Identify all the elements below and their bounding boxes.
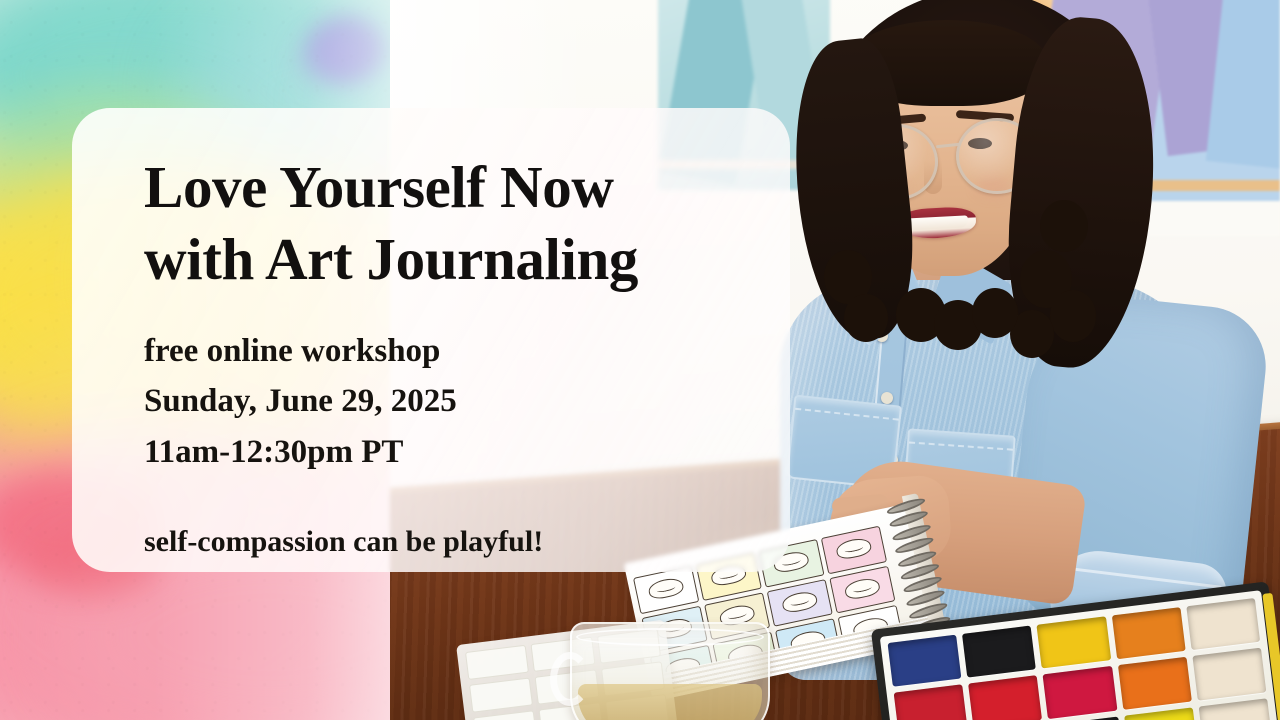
paint-pan xyxy=(962,625,1036,677)
headline-line-2: with Art Journaling xyxy=(144,224,790,296)
headline-line-1: Love Yourself Now xyxy=(144,152,790,224)
doodle-figure xyxy=(843,576,881,601)
jar-rim xyxy=(576,628,764,646)
doodle-figure xyxy=(781,589,819,614)
paint-pan xyxy=(968,675,1042,720)
hair-curl xyxy=(844,294,888,342)
paint-pan xyxy=(1186,598,1260,650)
journal-doodle-cell xyxy=(821,526,887,574)
detail-format: free online workshop xyxy=(144,326,790,376)
doodle-figure xyxy=(647,576,685,601)
info-card: Love Yourself Now with Art Journaling fr… xyxy=(72,108,790,572)
paint-pan xyxy=(888,635,962,687)
paint-pan xyxy=(1124,707,1198,720)
paint-water xyxy=(578,684,762,720)
page-title: Love Yourself Now with Art Journaling xyxy=(144,152,790,296)
doodle-figure xyxy=(835,536,873,561)
tagline: self-compassion can be playful! xyxy=(144,525,790,559)
event-details: free online workshop Sunday, June 29, 20… xyxy=(144,326,790,477)
hair-curl xyxy=(972,288,1018,338)
mixing-well xyxy=(473,710,537,720)
paint-pan xyxy=(1118,657,1192,709)
detail-date: Sunday, June 29, 2025 xyxy=(144,376,790,426)
paint-pan xyxy=(1043,666,1117,718)
mixing-well xyxy=(465,645,529,680)
paint-pan xyxy=(1192,648,1266,700)
journal-doodle-cell xyxy=(633,566,699,614)
detail-time: 11am-12:30pm PT xyxy=(144,427,790,477)
paint-pan xyxy=(1111,607,1185,659)
paint-pan xyxy=(1037,616,1111,668)
paint-pan xyxy=(1198,698,1272,720)
paint-pan xyxy=(894,685,968,720)
jar-handle xyxy=(550,652,590,706)
hair-curl xyxy=(1050,290,1096,342)
mixing-well xyxy=(469,677,533,712)
glass-water-jar xyxy=(570,622,770,720)
poster-canvas: Love Yourself Now with Art Journaling fr… xyxy=(0,0,1280,720)
hair-curl xyxy=(1040,200,1088,252)
